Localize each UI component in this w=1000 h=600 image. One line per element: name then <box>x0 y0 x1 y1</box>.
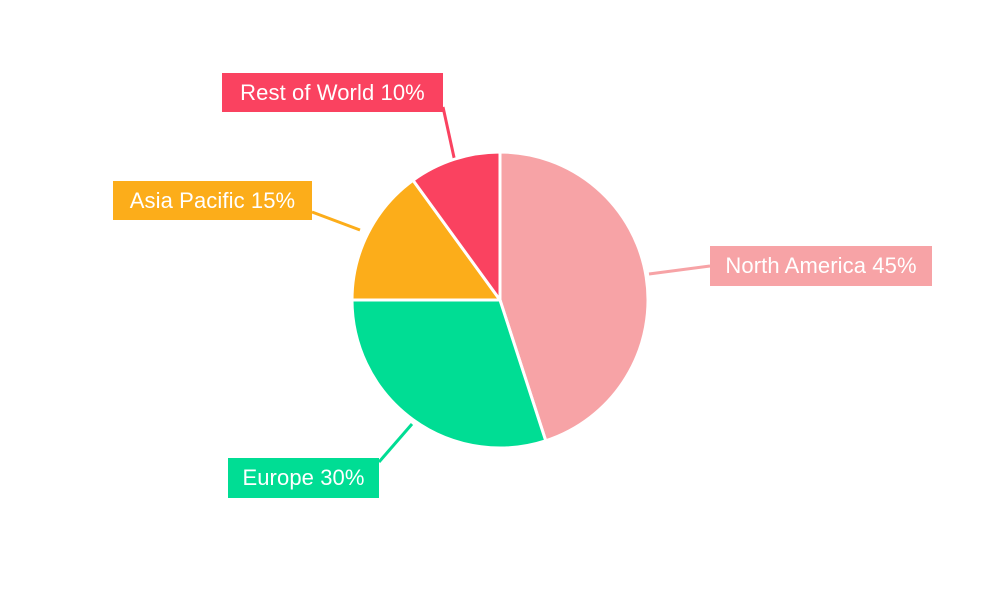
pie-label-rest-of-world[interactable]: Rest of World 10% <box>222 73 443 112</box>
leader-line-north-america <box>649 266 710 274</box>
pie-label-asia-pacific[interactable]: Asia Pacific 15% <box>113 181 312 220</box>
leader-line-asia-pacific <box>312 212 360 230</box>
pie-label-north-america[interactable]: North America 45% <box>710 246 932 286</box>
leader-line-rest-of-world <box>443 107 455 162</box>
pie-label-europe[interactable]: Europe 30% <box>228 458 379 498</box>
pie-chart-canvas <box>0 0 1000 600</box>
pie-chart-figure: North America 45% Europe 30% Asia Pacifi… <box>0 0 1000 600</box>
pie-slice-group <box>352 152 648 448</box>
leader-line-europe <box>379 424 412 462</box>
